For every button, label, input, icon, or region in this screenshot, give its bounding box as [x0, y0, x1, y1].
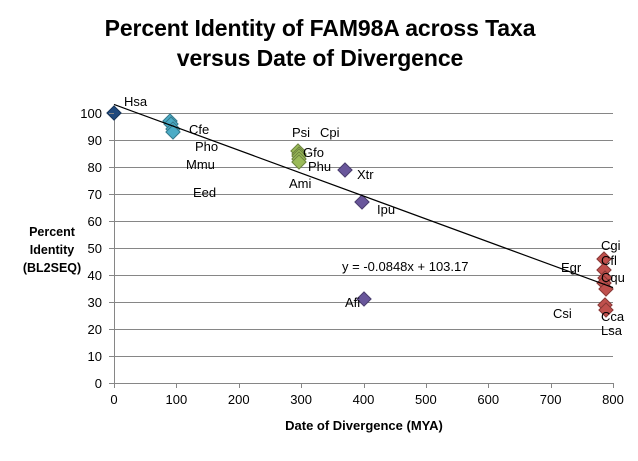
point-label-Cpi: Cpi: [320, 126, 340, 139]
plot-area: [114, 113, 613, 383]
y-tick-mark-100: [109, 113, 114, 114]
y-tick-mark-70: [109, 194, 114, 195]
y-tick-mark-20: [109, 329, 114, 330]
x-tick-mark-100: [176, 383, 177, 388]
x-tick-mark-700: [551, 383, 552, 388]
point-label-Phu: Phu: [308, 160, 331, 173]
data-point-Ipu: [354, 194, 370, 210]
y-tick-mark-10: [109, 356, 114, 357]
y-tick-label-50: 50: [68, 242, 102, 255]
point-label-Gfo: Gfo: [303, 146, 324, 159]
gridline-y-10: [114, 356, 613, 357]
x-tick-mark-300: [301, 383, 302, 388]
y-tick-mark-40: [109, 275, 114, 276]
y-tick-label-0: 0: [68, 377, 102, 390]
point-label-Psi: Psi: [292, 126, 310, 139]
x-tick-label-300: 300: [279, 393, 323, 406]
point-label-Egr: Egr: [561, 261, 581, 274]
chart-title-line-1: Percent Identity of FAM98A across Taxa: [105, 15, 536, 41]
point-label-Csi: Csi: [553, 307, 572, 320]
x-tick-mark-800: [613, 383, 614, 388]
chart-container: Percent Identity of FAM98A across Taxa v…: [0, 0, 638, 461]
y-tick-mark-60: [109, 221, 114, 222]
gridline-y-40: [114, 275, 613, 276]
gridline-y-50: [114, 248, 613, 249]
y-tick-label-70: 70: [68, 188, 102, 201]
y-tick-mark-50: [109, 248, 114, 249]
y-tick-label-60: 60: [68, 215, 102, 228]
y-tick-label-20: 20: [68, 323, 102, 336]
x-tick-label-700: 700: [529, 393, 573, 406]
x-tick-label-500: 500: [404, 393, 448, 406]
point-label-Cqu: Cqu: [601, 271, 625, 284]
x-tick-mark-600: [488, 383, 489, 388]
y-tick-mark-30: [109, 302, 114, 303]
gridline-y-20: [114, 329, 613, 330]
data-point-Xtr: [338, 162, 354, 178]
x-tick-mark-0: [114, 383, 115, 388]
x-tick-label-200: 200: [217, 393, 261, 406]
point-label-Lsa: Lsa: [601, 324, 622, 337]
x-tick-mark-400: [364, 383, 365, 388]
point-label-Xtr: Xtr: [357, 168, 374, 181]
y-tick-mark-80: [109, 167, 114, 168]
gridline-y-100: [114, 113, 613, 114]
point-label-Hsa: Hsa: [124, 95, 147, 108]
trendline-equation: y = -0.0848x + 103.17: [342, 259, 468, 274]
x-tick-label-400: 400: [342, 393, 386, 406]
point-label-Ipu: Ipu: [377, 203, 395, 216]
point-label-Cca: Cca: [601, 310, 624, 323]
point-label-Cfl: Cfl: [601, 254, 617, 267]
point-label-Cgi: Cgi: [601, 239, 621, 252]
gridline-y-60: [114, 221, 613, 222]
x-tick-label-800: 800: [591, 393, 635, 406]
x-tick-label-100: 100: [154, 393, 198, 406]
point-label-Mmu: Mmu: [186, 158, 215, 171]
point-label-Afi: Afi: [345, 296, 360, 309]
y-tick-label-80: 80: [68, 161, 102, 174]
chart-title-line-2: versus Date of Divergence: [60, 44, 580, 74]
x-tick-label-600: 600: [466, 393, 510, 406]
y-tick-label-10: 10: [68, 350, 102, 363]
x-tick-mark-200: [239, 383, 240, 388]
x-tick-label-0: 0: [92, 393, 136, 406]
y-tick-label-40: 40: [68, 269, 102, 282]
chart-title: Percent Identity of FAM98A across Taxa v…: [60, 14, 580, 74]
x-tick-mark-500: [426, 383, 427, 388]
point-label-Pho: Pho: [195, 140, 218, 153]
y-tick-mark-90: [109, 140, 114, 141]
point-label-Eed: Eed: [193, 186, 216, 199]
gridline-y-90: [114, 140, 613, 141]
y-tick-label-30: 30: [68, 296, 102, 309]
y-tick-label-90: 90: [68, 134, 102, 147]
point-label-Cfe: Cfe: [189, 123, 209, 136]
x-axis-title: Date of Divergence (MYA): [114, 418, 614, 433]
y-tick-label-100: 100: [68, 107, 102, 120]
point-label-Ami: Ami: [289, 177, 311, 190]
